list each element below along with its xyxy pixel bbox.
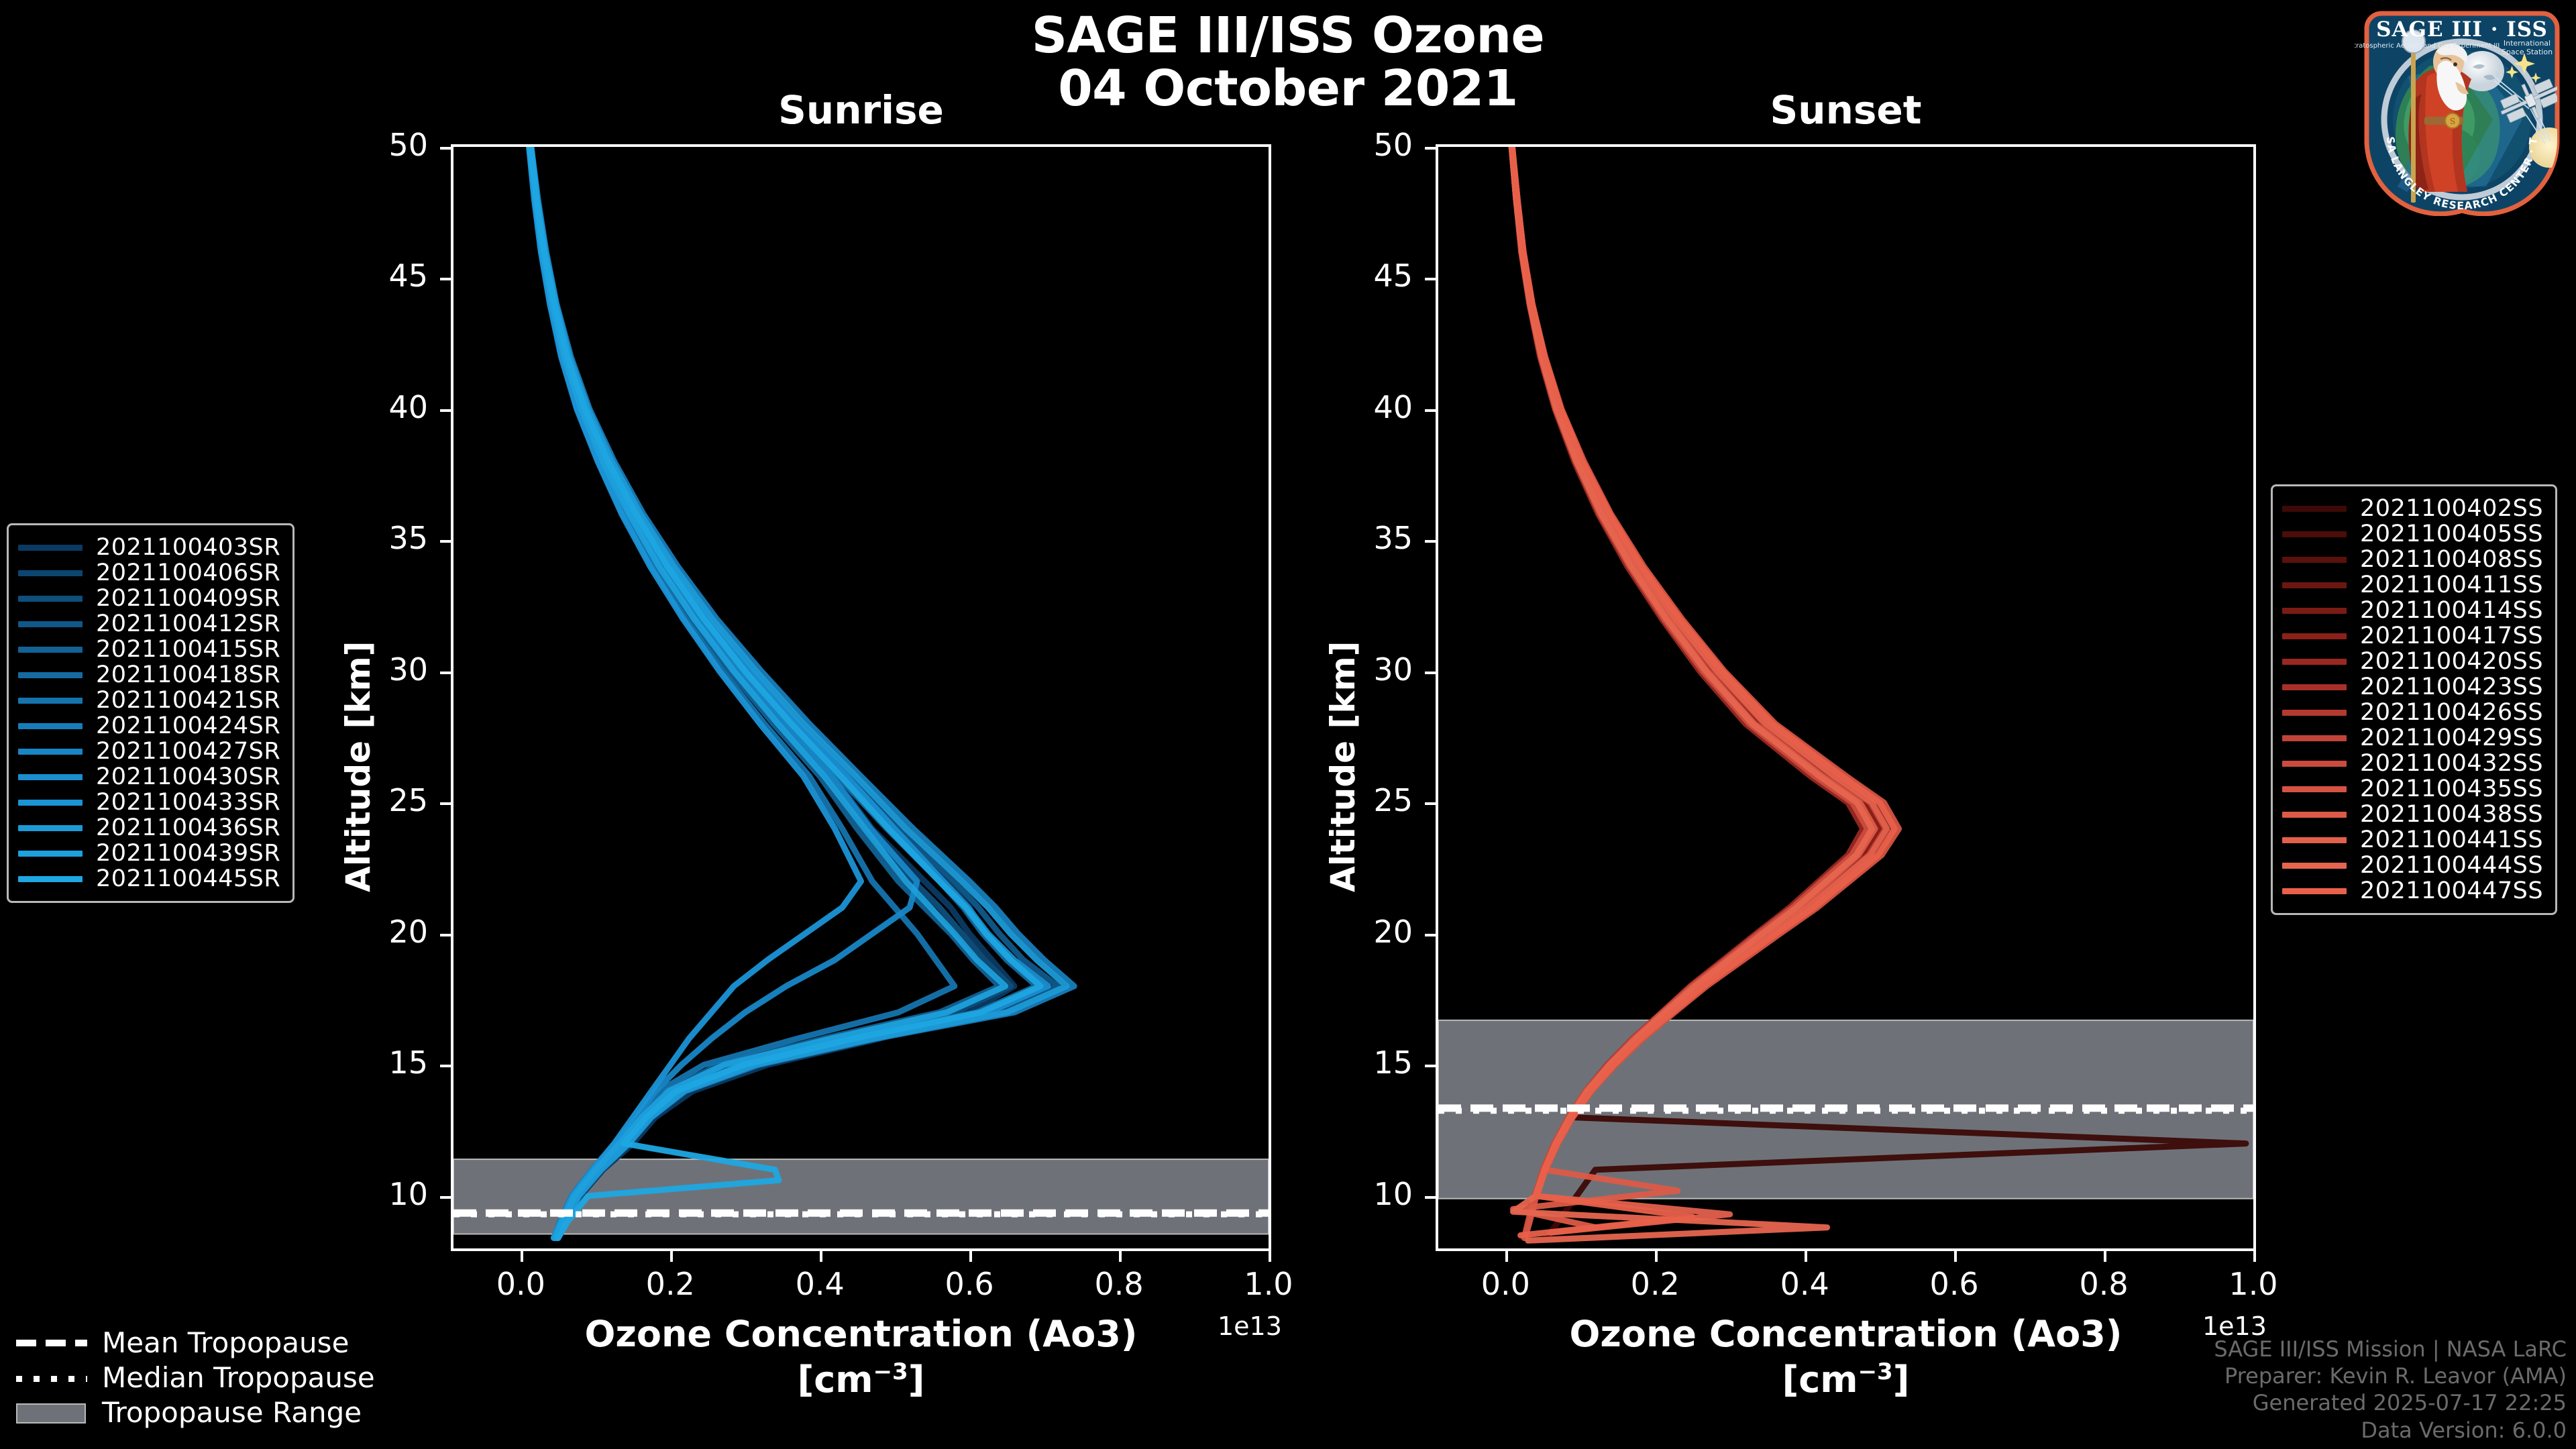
- legend-color-swatch: [2282, 735, 2347, 741]
- legend-item[interactable]: 2021100415SR: [18, 637, 280, 662]
- credits-block: SAGE III/ISS Mission | NASA LaRC Prepare…: [2214, 1336, 2567, 1444]
- tropopause-range-box-icon: [12, 1401, 91, 1424]
- x-tick-mark: [2104, 1251, 2106, 1262]
- y-tick-mark: [440, 934, 451, 936]
- profile-line[interactable]: [531, 147, 1067, 1238]
- y-tick-label: 15: [1326, 1044, 1413, 1081]
- y-tick-mark: [440, 278, 451, 280]
- x-tick-mark: [820, 1251, 822, 1262]
- x-tick-label: 0.8: [1065, 1266, 1173, 1302]
- legend-sunset[interactable]: 2021100402SS2021100405SS2021100408SS2021…: [2271, 484, 2557, 915]
- logo-subtitle-right-2: Space Station: [2502, 48, 2553, 56]
- y-tick-mark: [440, 409, 451, 412]
- x-tick-mark: [1655, 1251, 1658, 1262]
- legend-item[interactable]: 2021100420SS: [2282, 649, 2543, 674]
- legend-item[interactable]: 2021100447SS: [2282, 878, 2543, 904]
- legend-color-swatch: [18, 570, 83, 576]
- x-tick-label: 1.0: [2200, 1266, 2307, 1302]
- legend-label: 2021100420SS: [2360, 648, 2543, 675]
- x-axis-label-right-line1: Ozone Concentration (Ao3): [1436, 1311, 2256, 1357]
- legend-item[interactable]: 2021100412SR: [18, 611, 280, 637]
- logo-title: SAGE III · ISS: [2376, 17, 2548, 42]
- y-tick-label: 35: [1326, 520, 1413, 556]
- legend-item[interactable]: 2021100402SS: [2282, 496, 2543, 521]
- x-tick-label: 0.8: [2050, 1266, 2157, 1302]
- legend-label-mean-tropopause: Mean Tropopause: [102, 1326, 349, 1359]
- legend-color-swatch: [2282, 786, 2347, 792]
- legend-item-mean-tropopause[interactable]: Mean Tropopause: [12, 1325, 375, 1360]
- legend-label-tropopause-range: Tropopause Range: [102, 1396, 362, 1429]
- legend-item[interactable]: 2021100408SS: [2282, 547, 2543, 572]
- x-axis-exponent-left: 1e13: [1218, 1311, 1282, 1341]
- x-tick-label: 0.0: [467, 1266, 574, 1302]
- legend-color-swatch: [2282, 557, 2347, 563]
- y-tick-mark: [1425, 409, 1436, 412]
- legend-label: 2021100426SS: [2360, 699, 2543, 726]
- x-tick-mark: [521, 1251, 523, 1262]
- legend-color-swatch: [18, 800, 83, 806]
- legend-color-swatch: [18, 723, 83, 729]
- legend-item[interactable]: 2021100441SS: [2282, 827, 2543, 853]
- legend-color-swatch: [2282, 863, 2347, 869]
- legend-label: 2021100423SS: [2360, 674, 2543, 700]
- x-tick-mark: [1269, 1251, 1271, 1262]
- legend-label: 2021100436SR: [96, 814, 280, 841]
- legend-item[interactable]: 2021100439SR: [18, 841, 280, 866]
- y-tick-label: 40: [1326, 389, 1413, 425]
- y-tick-label: 10: [341, 1176, 428, 1212]
- x-axis-label-right: Ozone Concentration (Ao3) [cm−3]: [1436, 1311, 2256, 1402]
- legend-item[interactable]: 2021100436SR: [18, 815, 280, 841]
- x-tick-mark: [1505, 1251, 1508, 1262]
- legend-sunrise[interactable]: 2021100403SR2021100406SR2021100409SR2021…: [7, 523, 294, 903]
- legend-label: 2021100403SR: [96, 534, 280, 561]
- credits-line-2: Preparer: Kevin R. Leavor (AMA): [2214, 1362, 2567, 1389]
- svg-text:S: S: [2450, 117, 2455, 126]
- y-tick-mark: [440, 540, 451, 543]
- x-tick-mark: [1954, 1251, 1957, 1262]
- credits-line-4: Data Version: 6.0.0: [2214, 1417, 2567, 1444]
- legend-label: 2021100405SS: [2360, 521, 2543, 547]
- x-tick-label: 0.2: [616, 1266, 724, 1302]
- y-axis-label-left: Altitude [km]: [339, 641, 378, 892]
- y-tick-mark: [1425, 147, 1436, 150]
- x-tick-mark: [2253, 1251, 2256, 1262]
- legend-label: 2021100435SS: [2360, 775, 2543, 802]
- legend-color-swatch: [2282, 761, 2347, 767]
- profile-line[interactable]: [531, 147, 1044, 1238]
- legend-label: 2021100402SS: [2360, 495, 2543, 522]
- legend-label: 2021100408SS: [2360, 546, 2543, 573]
- y-tick-label: 45: [341, 258, 428, 294]
- legend-label: 2021100447SS: [2360, 877, 2543, 904]
- legend-item[interactable]: 2021100433SR: [18, 790, 280, 815]
- y-tick-mark: [1425, 278, 1436, 280]
- x-axis-label-left-line1: Ozone Concentration (Ao3): [451, 1311, 1271, 1357]
- profile-line[interactable]: [531, 147, 1058, 1238]
- legend-label: 2021100438SS: [2360, 801, 2543, 828]
- x-tick-mark: [969, 1251, 972, 1262]
- legend-label: 2021100417SS: [2360, 623, 2543, 649]
- legend-color-swatch: [18, 545, 83, 551]
- y-tick-mark: [440, 672, 451, 674]
- legend-label: 2021100445SR: [96, 865, 280, 892]
- x-tick-label: 0.4: [766, 1266, 873, 1302]
- legend-label: 2021100406SR: [96, 559, 280, 586]
- y-tick-label: 50: [341, 127, 428, 163]
- legend-item[interactable]: 2021100435SS: [2282, 776, 2543, 802]
- plot-area-sunrise[interactable]: [451, 144, 1271, 1251]
- y-tick-mark: [1425, 1065, 1436, 1067]
- legend-color-swatch: [18, 621, 83, 627]
- x-tick-label: 0.4: [1751, 1266, 1858, 1302]
- legend-label: 2021100429SS: [2360, 724, 2543, 751]
- legend-label: 2021100444SS: [2360, 852, 2543, 879]
- legend-label: 2021100441SS: [2360, 826, 2543, 853]
- subplot-title-sunset: Sunset: [1436, 87, 2256, 133]
- tropopause-legend: Mean Tropopause Median Tropopause Tropop…: [12, 1325, 375, 1430]
- legend-item[interactable]: 2021100405SS: [2282, 521, 2543, 547]
- x-tick-mark: [1119, 1251, 1122, 1262]
- legend-item[interactable]: 2021100444SS: [2282, 853, 2543, 878]
- legend-item[interactable]: 2021100418SR: [18, 662, 280, 688]
- legend-label: 2021100439SR: [96, 840, 280, 867]
- legend-color-swatch: [18, 698, 83, 704]
- y-tick-label: 40: [341, 389, 428, 425]
- legend-item[interactable]: 2021100417SS: [2282, 623, 2543, 649]
- legend-color-swatch: [18, 825, 83, 831]
- legend-color-swatch: [2282, 710, 2347, 716]
- legend-item[interactable]: 2021100430SR: [18, 764, 280, 790]
- title-line-1: SAGE III/ISS Ozone: [0, 9, 2576, 62]
- y-tick-mark: [1425, 672, 1436, 674]
- legend-item[interactable]: 2021100423SS: [2282, 674, 2543, 700]
- x-tick-mark: [670, 1251, 673, 1262]
- logo-subtitle-left: Stratospheric Aerosol and Gas Experiment…: [2355, 42, 2500, 50]
- mean-tropopause-dash-icon: [12, 1331, 91, 1354]
- legend-color-swatch: [18, 672, 83, 678]
- plot-area-sunset[interactable]: [1436, 144, 2256, 1251]
- legend-item[interactable]: 2021100424SR: [18, 713, 280, 739]
- y-axis-label-right: Altitude [km]: [1324, 641, 1362, 892]
- legend-item[interactable]: 2021100406SR: [18, 560, 280, 586]
- legend-color-swatch: [18, 596, 83, 602]
- x-tick-label: 0.6: [1900, 1266, 2008, 1302]
- y-tick-label: 35: [341, 520, 428, 556]
- legend-color-swatch: [2282, 659, 2347, 665]
- x-tick-label: 1.0: [1215, 1266, 1322, 1302]
- legend-color-swatch: [2282, 888, 2347, 894]
- y-tick-mark: [440, 802, 451, 805]
- y-tick-mark: [440, 1196, 451, 1199]
- y-tick-label: 45: [1326, 258, 1413, 294]
- legend-label: 2021100415SR: [96, 636, 280, 663]
- legend-color-swatch: [2282, 582, 2347, 588]
- legend-label: 2021100421SR: [96, 687, 280, 714]
- x-axis-label-right-line2: [cm−3]: [1436, 1357, 2256, 1403]
- legend-label: 2021100432SS: [2360, 750, 2543, 777]
- legend-color-swatch: [18, 749, 83, 755]
- legend-item[interactable]: 2021100411SS: [2282, 572, 2543, 598]
- x-tick-mark: [1805, 1251, 1807, 1262]
- legend-color-swatch: [2282, 506, 2347, 512]
- y-tick-mark: [1425, 540, 1436, 543]
- legend-label-median-tropopause: Median Tropopause: [102, 1361, 375, 1394]
- legend-item[interactable]: 2021100426SS: [2282, 700, 2543, 725]
- subplot-title-sunrise: Sunrise: [451, 87, 1271, 133]
- y-tick-label: 10: [1326, 1176, 1413, 1212]
- legend-color-swatch: [2282, 608, 2347, 614]
- logo-subtitle-right-1: International: [2504, 39, 2551, 48]
- y-tick-mark: [1425, 1196, 1436, 1199]
- y-tick-label: 15: [341, 1044, 428, 1081]
- y-tick-label: 20: [341, 914, 428, 950]
- legend-label: 2021100412SR: [96, 610, 280, 637]
- x-axis-label-left-line2: [cm−3]: [451, 1357, 1271, 1403]
- profile-line[interactable]: [531, 147, 1048, 1238]
- y-tick-mark: [440, 1065, 451, 1067]
- legend-item-tropopause-range[interactable]: Tropopause Range: [12, 1395, 375, 1430]
- legend-label: 2021100424SR: [96, 712, 280, 739]
- legend-label: 2021100414SS: [2360, 597, 2543, 624]
- legend-item[interactable]: 2021100438SS: [2282, 802, 2543, 827]
- x-tick-label: 0.6: [916, 1266, 1023, 1302]
- y-tick-mark: [1425, 934, 1436, 936]
- legend-item[interactable]: 2021100409SR: [18, 586, 280, 611]
- legend-label: 2021100430SR: [96, 763, 280, 790]
- legend-color-swatch: [18, 851, 83, 857]
- credits-line-3: Generated 2025-07-17 22:25: [2214, 1389, 2567, 1416]
- y-tick-label: 50: [1326, 127, 1413, 163]
- legend-item[interactable]: 2021100414SS: [2282, 598, 2543, 623]
- legend-color-swatch: [2282, 812, 2347, 818]
- legend-label: 2021100433SR: [96, 789, 280, 816]
- legend-item-median-tropopause[interactable]: Median Tropopause: [12, 1360, 375, 1395]
- legend-color-swatch: [2282, 837, 2347, 843]
- legend-color-swatch: [18, 876, 83, 882]
- legend-item[interactable]: 2021100403SR: [18, 535, 280, 560]
- credits-line-1: SAGE III/ISS Mission | NASA LaRC: [2214, 1336, 2567, 1362]
- x-tick-label: 0.0: [1452, 1266, 1559, 1302]
- legend-label: 2021100409SR: [96, 585, 280, 612]
- profile-line[interactable]: [531, 147, 1040, 1238]
- legend-color-swatch: [18, 774, 83, 780]
- legend-color-swatch: [18, 647, 83, 653]
- legend-color-swatch: [2282, 684, 2347, 690]
- legend-item[interactable]: 2021100427SR: [18, 739, 280, 764]
- legend-item[interactable]: 2021100432SS: [2282, 751, 2543, 776]
- legend-color-swatch: [2282, 633, 2347, 639]
- legend-label: 2021100411SS: [2360, 572, 2543, 598]
- legend-label: 2021100427SR: [96, 738, 280, 765]
- y-tick-mark: [440, 147, 451, 150]
- legend-item[interactable]: 2021100429SS: [2282, 725, 2543, 751]
- legend-label: 2021100418SR: [96, 661, 280, 688]
- profile-line[interactable]: [531, 147, 1074, 1238]
- legend-color-swatch: [2282, 531, 2347, 537]
- y-tick-mark: [1425, 802, 1436, 805]
- x-axis-label-left: Ozone Concentration (Ao3) [cm−3]: [451, 1311, 1271, 1402]
- median-tropopause-dot-icon: [12, 1366, 91, 1389]
- y-tick-label: 20: [1326, 914, 1413, 950]
- x-tick-label: 0.2: [1601, 1266, 1709, 1302]
- legend-item[interactable]: 2021100445SR: [18, 866, 280, 892]
- sage-iii-iss-mission-patch-logo: S SAGE III · ISS Stratospheric Aerosol a…: [2355, 1, 2569, 216]
- legend-item[interactable]: 2021100421SR: [18, 688, 280, 713]
